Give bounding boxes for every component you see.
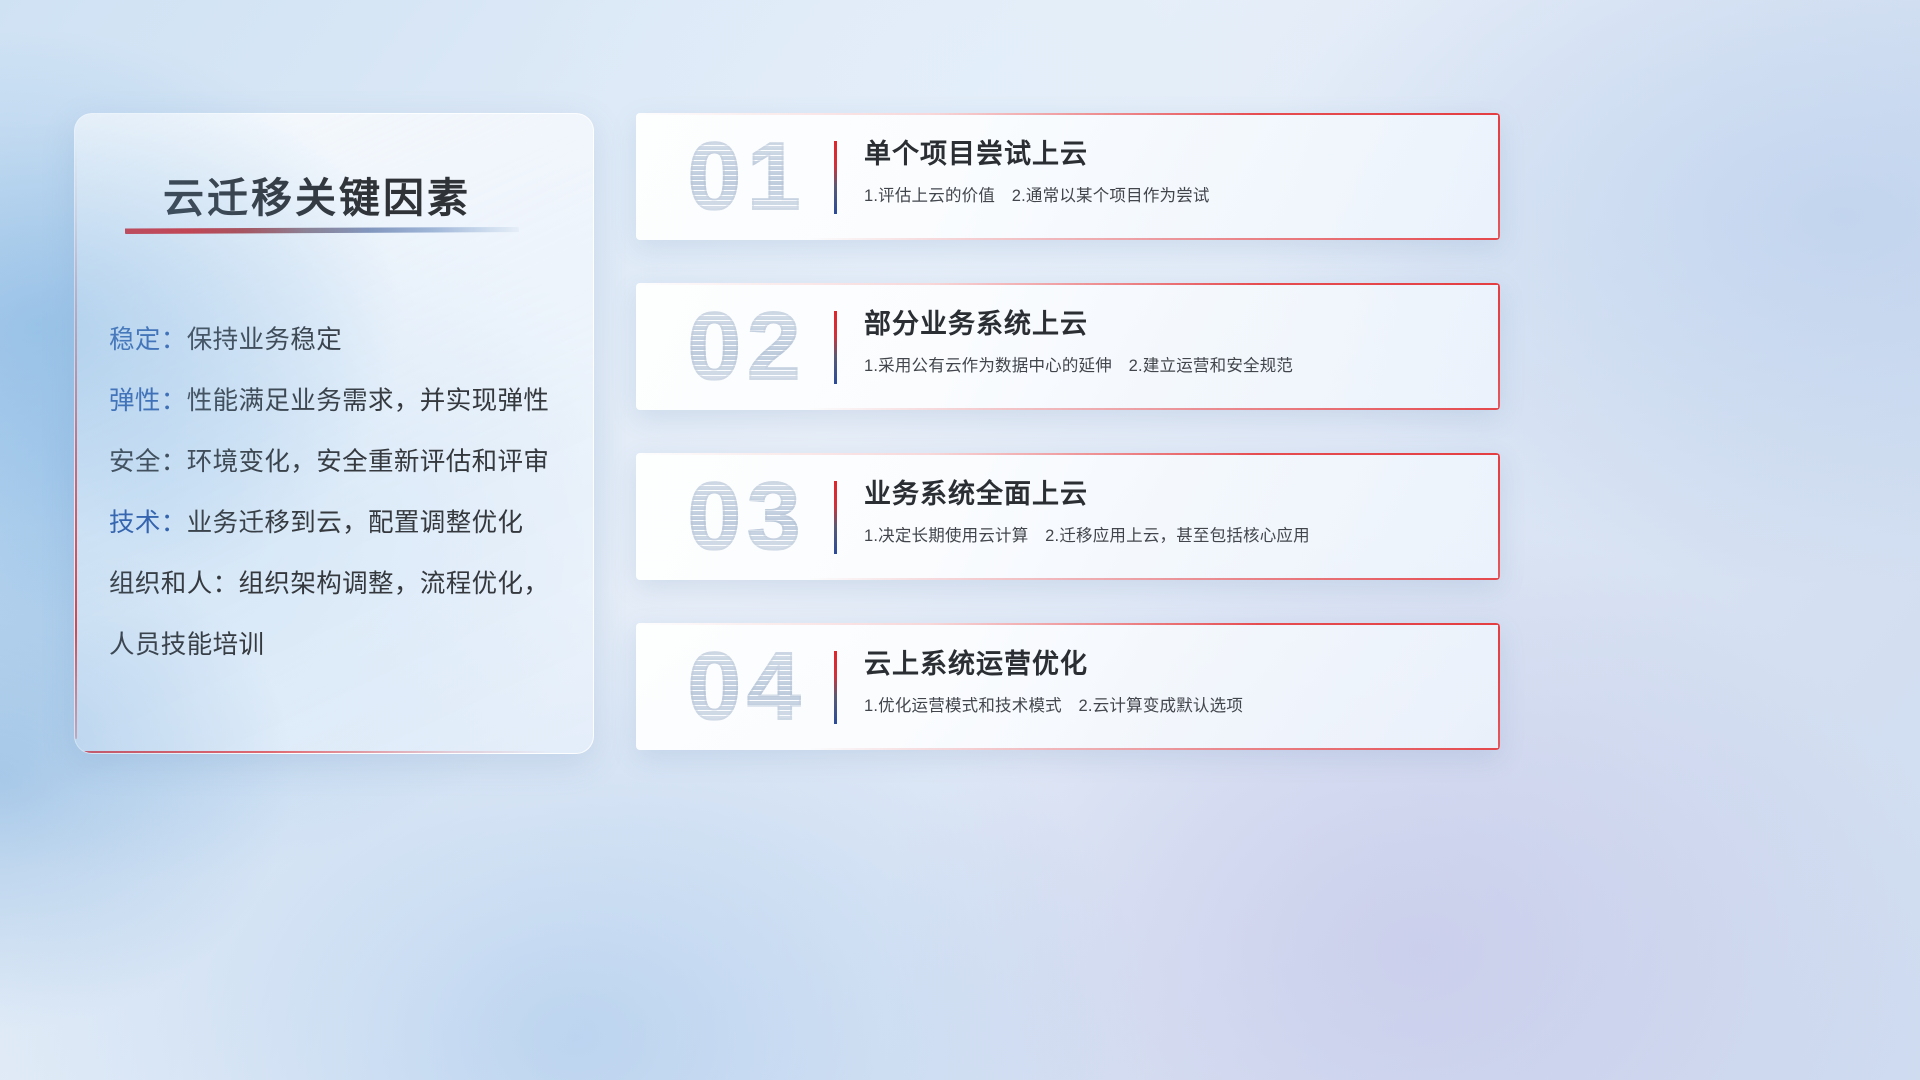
step-text-block: 业务系统全面上云 1.决定长期使用云计算 2.迁移应用上云，甚至包括核心应用 <box>864 473 1482 548</box>
step-accent-bar <box>834 651 837 724</box>
step-number-watermark: 02 <box>658 291 836 403</box>
card-top-accent-line <box>636 283 1500 285</box>
factor-label: 安全： <box>109 448 187 476</box>
step-number-text: 02 <box>688 293 807 400</box>
panel-left-accent-edge <box>75 140 77 739</box>
card-top-accent-line <box>636 453 1500 455</box>
factor-text: 组织架构调整，流程优化， <box>239 570 550 598</box>
factor-label: 稳定： <box>109 326 187 354</box>
step-title: 云上系统运营优化 <box>864 643 1482 685</box>
step-subtitle: 1.评估上云的价值 2.通常以某个项目作为尝试 <box>864 184 1482 208</box>
factor-text: 业务迁移到云，配置调整优化 <box>187 509 524 537</box>
step-subtitle: 1.决定长期使用云计算 2.迁移应用上云，甚至包括核心应用 <box>864 524 1482 548</box>
factor-item: 组织和人：组织架构调整，流程优化， <box>109 554 571 615</box>
factor-item: 安全：环境变化，安全重新评估和评审 <box>109 432 571 493</box>
title-underline-gradient <box>125 227 519 234</box>
card-right-accent-line <box>1498 113 1500 240</box>
factor-list: 稳定：保持业务稳定 弹性：性能满足业务需求，并实现弹性 安全：环境变化，安全重新… <box>109 310 571 676</box>
step-number-watermark: 01 <box>658 121 836 233</box>
step-card-list: 01 单个项目尝试上云 1.评估上云的价值 2.通常以某个项目作为尝试 02 部… <box>636 113 1500 793</box>
card-right-accent-line <box>1498 453 1500 580</box>
factor-item-continuation: 人员技能培训 <box>109 615 571 676</box>
card-bottom-accent-line <box>809 408 1500 410</box>
card-top-accent-line <box>636 623 1500 625</box>
card-right-accent-line <box>1498 283 1500 410</box>
panel-bottom-accent-edge <box>81 751 553 753</box>
step-subtitle: 1.优化运营模式和技术模式 2.云计算变成默认选项 <box>864 694 1482 718</box>
card-bottom-accent-line <box>809 578 1500 580</box>
step-card[interactable]: 02 部分业务系统上云 1.采用公有云作为数据中心的延伸 2.建立运营和安全规范 <box>636 283 1500 410</box>
step-title: 业务系统全面上云 <box>864 473 1482 515</box>
factor-text: 环境变化，安全重新评估和评审 <box>187 448 550 476</box>
factor-label: 弹性： <box>109 387 187 415</box>
card-bottom-accent-line <box>809 748 1500 750</box>
factor-item: 弹性：性能满足业务需求，并实现弹性 <box>109 371 571 432</box>
step-card[interactable]: 04 云上系统运营优化 1.优化运营模式和技术模式 2.云计算变成默认选项 <box>636 623 1500 750</box>
step-number-watermark: 03 <box>658 461 836 573</box>
card-bottom-accent-line <box>809 238 1500 240</box>
factor-label: 组织和人： <box>109 570 239 598</box>
step-number-text: 04 <box>688 633 807 740</box>
factor-text: 人员技能培训 <box>109 631 264 659</box>
step-text-block: 部分业务系统上云 1.采用公有云作为数据中心的延伸 2.建立运营和安全规范 <box>864 303 1482 378</box>
factor-text: 保持业务稳定 <box>187 326 342 354</box>
factor-item: 稳定：保持业务稳定 <box>109 310 571 371</box>
key-factors-panel: 云迁移关键因素 稳定：保持业务稳定 弹性：性能满足业务需求，并实现弹性 安全：环… <box>74 113 594 754</box>
step-number-text: 03 <box>688 463 807 570</box>
step-subtitle: 1.采用公有云作为数据中心的延伸 2.建立运营和安全规范 <box>864 354 1482 378</box>
step-text-block: 云上系统运营优化 1.优化运营模式和技术模式 2.云计算变成默认选项 <box>864 643 1482 718</box>
step-title: 部分业务系统上云 <box>864 303 1482 345</box>
panel-title: 云迁移关键因素 <box>163 164 471 224</box>
step-card[interactable]: 01 单个项目尝试上云 1.评估上云的价值 2.通常以某个项目作为尝试 <box>636 113 1500 240</box>
step-accent-bar <box>834 481 837 554</box>
factor-text: 性能满足业务需求，并实现弹性 <box>187 387 550 415</box>
card-right-accent-line <box>1498 623 1500 750</box>
step-text-block: 单个项目尝试上云 1.评估上云的价值 2.通常以某个项目作为尝试 <box>864 133 1482 208</box>
step-title: 单个项目尝试上云 <box>864 133 1482 175</box>
factor-label: 技术： <box>109 509 187 537</box>
step-accent-bar <box>834 311 837 384</box>
factor-item: 技术：业务迁移到云，配置调整优化 <box>109 493 571 554</box>
slide-canvas: 云迁移关键因素 稳定：保持业务稳定 弹性：性能满足业务需求，并实现弹性 安全：环… <box>0 0 1920 1080</box>
step-number-watermark: 04 <box>658 631 836 743</box>
step-card[interactable]: 03 业务系统全面上云 1.决定长期使用云计算 2.迁移应用上云，甚至包括核心应… <box>636 453 1500 580</box>
card-top-accent-line <box>636 113 1500 115</box>
step-accent-bar <box>834 141 837 214</box>
step-number-text: 01 <box>688 123 807 230</box>
